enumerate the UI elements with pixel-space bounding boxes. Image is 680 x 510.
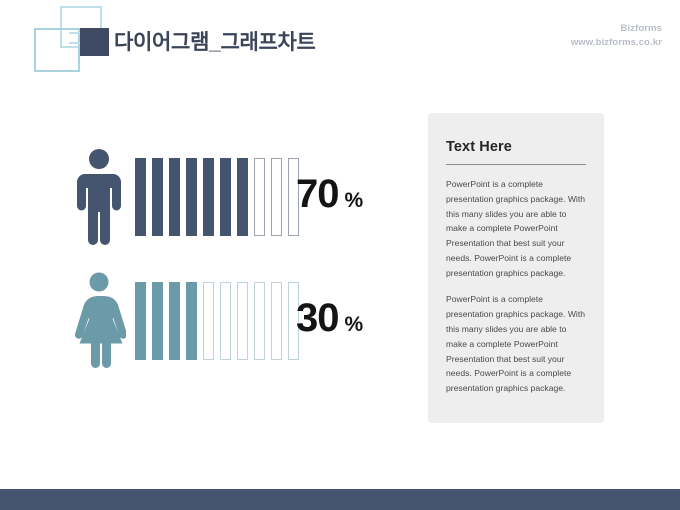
bar-segment-filled: [186, 158, 197, 236]
slide-footer-bar: [0, 489, 680, 510]
bar-segment-filled: [237, 158, 248, 236]
chart-row-female: 30%: [0, 272, 420, 382]
bar-segment-filled: [152, 282, 163, 360]
bar-segment-empty: [254, 282, 265, 360]
text-panel-paragraph: PowerPoint is a complete presentation gr…: [446, 292, 586, 395]
percent-value-male: 70: [296, 172, 339, 216]
bar-segment-empty: [220, 282, 231, 360]
bar-track-male: [135, 158, 299, 236]
female-figure-icon: [72, 272, 126, 372]
percent-sign-male: %: [345, 189, 364, 212]
bar-segment-filled: [135, 158, 146, 236]
brandmark: Bizforms www.bizforms.co.kr: [571, 22, 662, 50]
bar-segment-empty: [203, 282, 214, 360]
text-panel: Text Here PowerPoint is a complete prese…: [428, 113, 604, 423]
bar-segment-empty: [254, 158, 265, 236]
bar-segment-empty: [237, 282, 248, 360]
brand-url: www.bizforms.co.kr: [571, 36, 662, 50]
logo-square-filled: [80, 28, 109, 56]
text-panel-divider: [446, 164, 586, 165]
bar-segment-filled: [220, 158, 231, 236]
male-figure-icon: [72, 148, 126, 248]
bar-segment-filled: [152, 158, 163, 236]
bar-segment-empty: [271, 282, 282, 360]
percent-label-female: 30%: [296, 296, 363, 341]
bar-segment-filled: [203, 158, 214, 236]
text-panel-paragraph: PowerPoint is a complete presentation gr…: [446, 177, 586, 280]
chart-row-male: 70%: [0, 148, 420, 258]
slide-header: 다이어그램_그래프차트 Bizforms www.bizforms.co.kr: [0, 0, 680, 88]
bar-segment-filled: [135, 282, 146, 360]
bar-segment-filled: [169, 158, 180, 236]
bar-track-female: [135, 282, 299, 360]
percent-sign-female: %: [345, 313, 364, 336]
bar-segment-empty: [271, 158, 282, 236]
bar-segment-filled: [169, 282, 180, 360]
bar-segment-filled: [186, 282, 197, 360]
page-title: 다이어그램_그래프차트: [114, 26, 316, 56]
percent-value-female: 30: [296, 296, 339, 340]
overlapping-squares-logo-icon: [14, 6, 110, 70]
text-panel-heading: Text Here: [446, 139, 586, 155]
percent-label-male: 70%: [296, 172, 363, 217]
chart-area: 70% 30%: [0, 100, 420, 410]
brand-name: Bizforms: [571, 22, 662, 36]
